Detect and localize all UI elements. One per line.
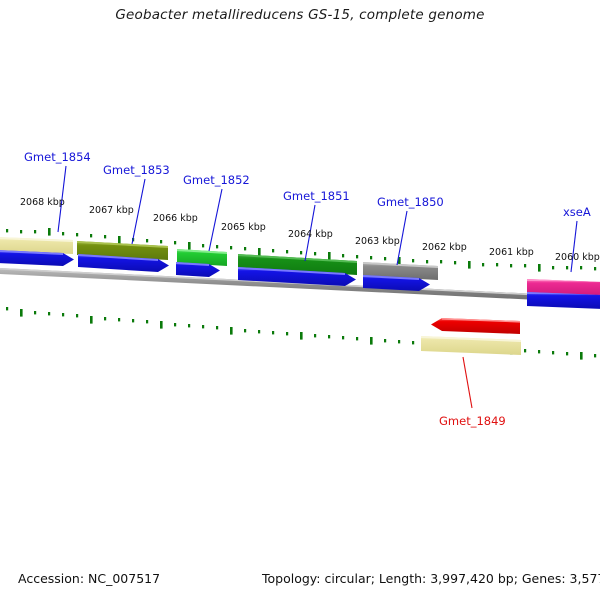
ruler-tick-label: 2060 kbp (555, 252, 600, 263)
ruler-tick-label: 2065 kbp (221, 222, 266, 233)
ruler-tick-label: 2066 kbp (153, 213, 198, 224)
gene-label-gmet-1852[interactable]: Gmet_1852 (183, 173, 250, 187)
ruler-tick-label: 2067 kbp (89, 205, 134, 216)
gene-label-xsea[interactable]: xseA (563, 205, 591, 219)
ruler-tick-label: 2062 kbp (422, 242, 467, 253)
genome-map-viewer: Geobacter metallireducens GS-15, complet… (0, 0, 600, 600)
ruler-tick-label: 2068 kbp (20, 197, 65, 208)
genome-summary-text: Topology: circular; Length: 3,997,420 bp… (262, 571, 600, 586)
gene-label-gmet-1854[interactable]: Gmet_1854 (24, 150, 91, 164)
ruler-tick-label: 2064 kbp (288, 229, 333, 240)
feature-product-gmet-1849[interactable] (421, 336, 521, 355)
accession-text: Accession: NC_007517 (18, 571, 160, 586)
feature-cds-xsea[interactable] (527, 292, 600, 309)
ruler-tick-label: 2061 kbp (489, 247, 534, 258)
gene-label-gmet-1853[interactable]: Gmet_1853 (103, 163, 170, 177)
ruler-tick-label: 2063 kbp (355, 236, 400, 247)
gene-label-gmet-1851[interactable]: Gmet_1851 (283, 189, 350, 203)
gene-label-gmet-1850[interactable]: Gmet_1850 (377, 195, 444, 209)
feature-cds-gmet-1849[interactable] (431, 318, 520, 334)
gene-label-gmet-1849[interactable]: Gmet_1849 (439, 414, 506, 428)
genome-map-canvas (0, 0, 600, 600)
